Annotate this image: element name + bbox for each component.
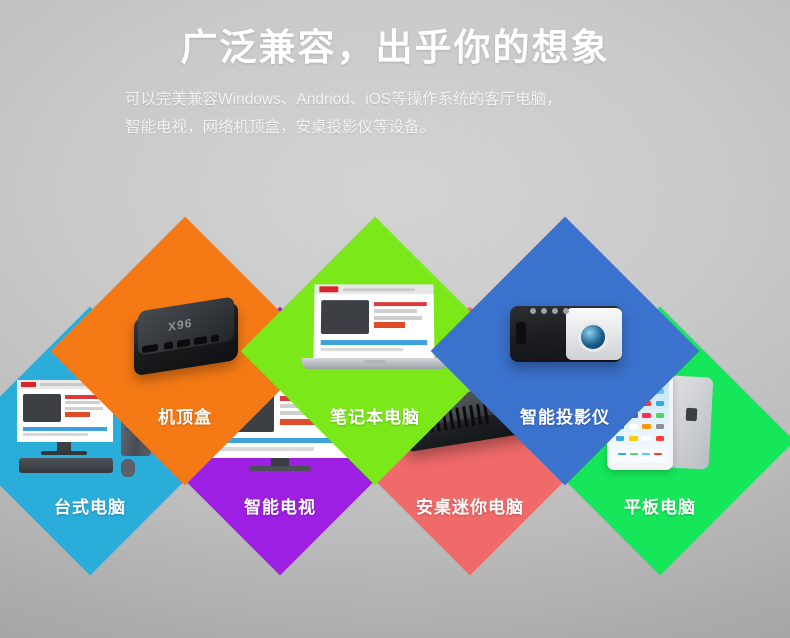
banner-header: 广泛兼容，出乎你的想象 可以完美兼容Windows、Andriod、iOS等操作… — [0, 0, 790, 141]
device-diamond-grid: 台式电脑 X96 机顶盒 — [0, 262, 790, 552]
laptop-icon — [280, 282, 470, 386]
tile-label: 智能投影仪 — [470, 403, 660, 428]
tile-label: 笔记本电脑 — [280, 403, 470, 428]
subtitle-line-2: 智能电视，网络机顶盒，安桌投影仪等设备。 — [125, 114, 665, 141]
device-tile-projector[interactable]: 智能投影仪 — [431, 217, 700, 486]
tile-label: 台式电脑 — [0, 493, 185, 518]
page-subtitle: 可以完美兼容Windows、Andriod、iOS等操作系统的客厅电脑， 智能电… — [125, 86, 665, 140]
set-top-box-icon: X96 — [90, 282, 280, 386]
tile-label: 安桌迷你电脑 — [375, 493, 565, 518]
page-title: 广泛兼容，出乎你的想象 — [0, 26, 790, 70]
tile-content: 智能投影仪 — [470, 256, 660, 446]
subtitle-line-1: 可以完美兼容Windows、Andriod、iOS等操作系统的客厅电脑， — [125, 86, 665, 113]
tile-label: 机顶盒 — [90, 403, 280, 428]
projector-icon — [470, 282, 660, 386]
tablet-dock — [614, 449, 665, 460]
tile-label: 智能电视 — [185, 493, 375, 518]
compatibility-banner: 广泛兼容，出乎你的想象 可以完美兼容Windows、Andriod、iOS等操作… — [0, 0, 790, 638]
tile-label: 平板电脑 — [565, 493, 755, 518]
